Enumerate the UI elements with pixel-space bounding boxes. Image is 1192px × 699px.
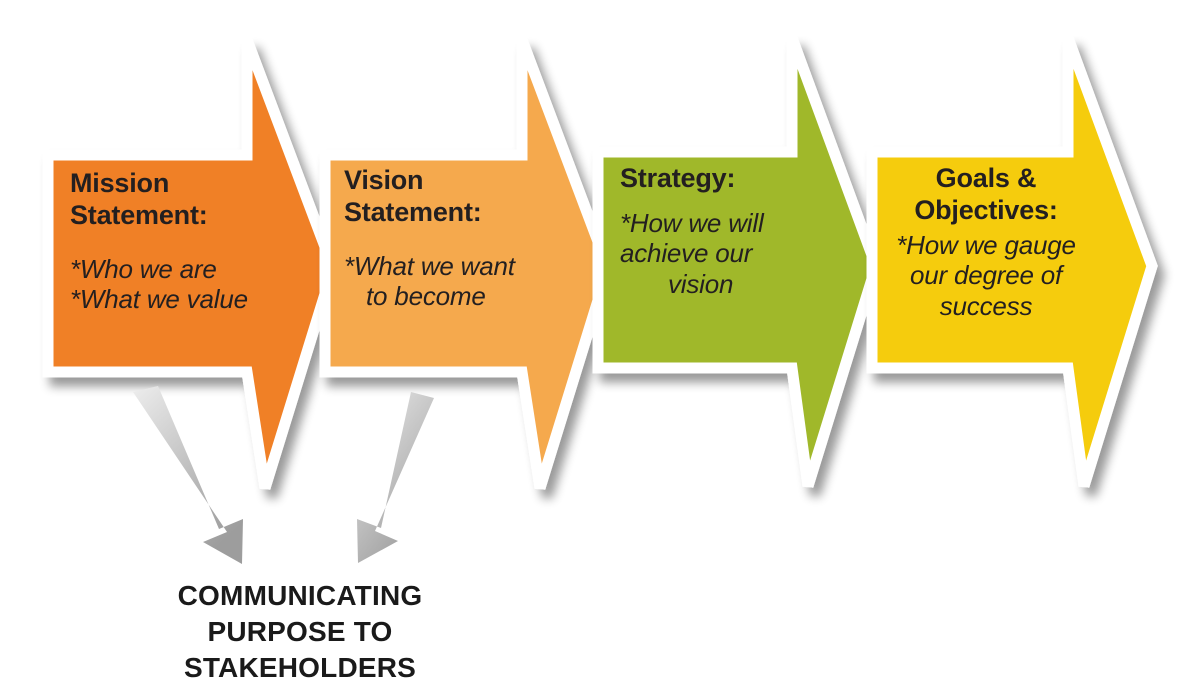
step-chevron-strategy[interactable] (598, 38, 876, 486)
chevron-shape-goals (872, 38, 1152, 486)
process-flow-diagram: Mission Statement: *Who we are *What we … (0, 0, 1192, 699)
step-chevron-mission[interactable] (48, 40, 333, 488)
connector-arrow-mission-to-caption (133, 386, 243, 564)
diagram-caption: COMMUNICATING PURPOSE TO STAKEHOLDERS (110, 578, 490, 685)
connector-arrow-vision-to-caption (357, 392, 434, 563)
chevron-shape-vision (325, 40, 608, 488)
step-chevron-vision[interactable] (325, 40, 608, 488)
step-chevron-goals[interactable] (872, 38, 1152, 486)
chevron-shape-strategy (598, 38, 876, 486)
arrow-down-right-icon (133, 386, 243, 564)
chevron-shape-mission (48, 40, 333, 488)
arrow-down-left-icon (357, 392, 434, 563)
